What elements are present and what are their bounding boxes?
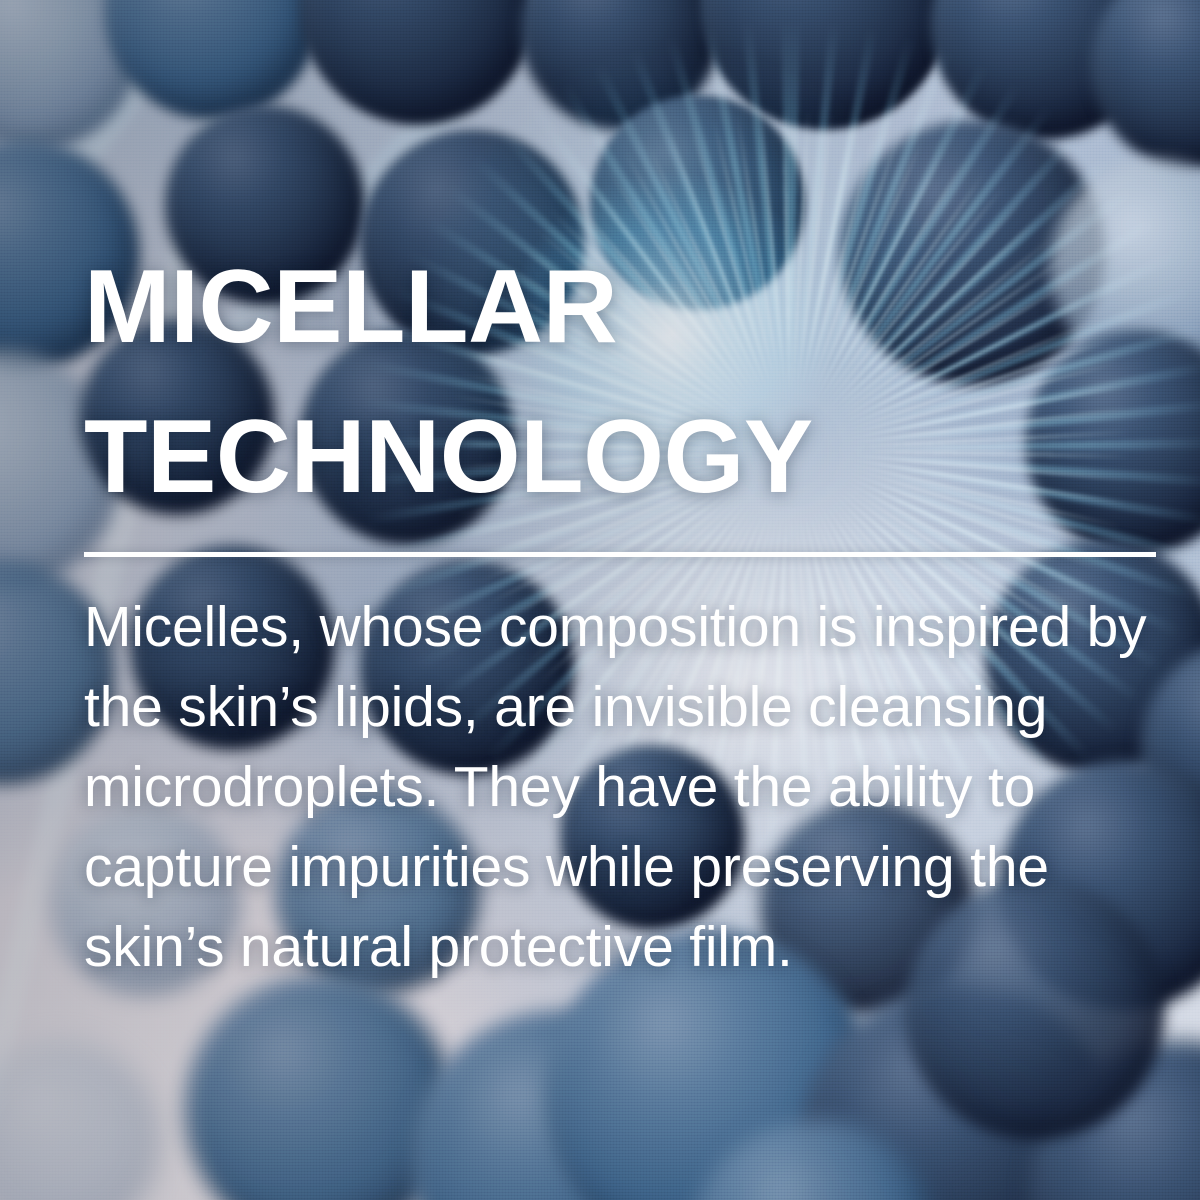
text-content-block: MICELLAR TECHNOLOGY Micelles, whose comp… bbox=[84, 232, 1159, 987]
micellar-technology-poster: MICELLAR TECHNOLOGY Micelles, whose comp… bbox=[0, 0, 1200, 1200]
body-paragraph: Micelles, whose composition is inspired … bbox=[84, 587, 1159, 987]
page-title: MICELLAR TECHNOLOGY bbox=[84, 232, 1159, 532]
title-divider bbox=[84, 552, 1156, 557]
